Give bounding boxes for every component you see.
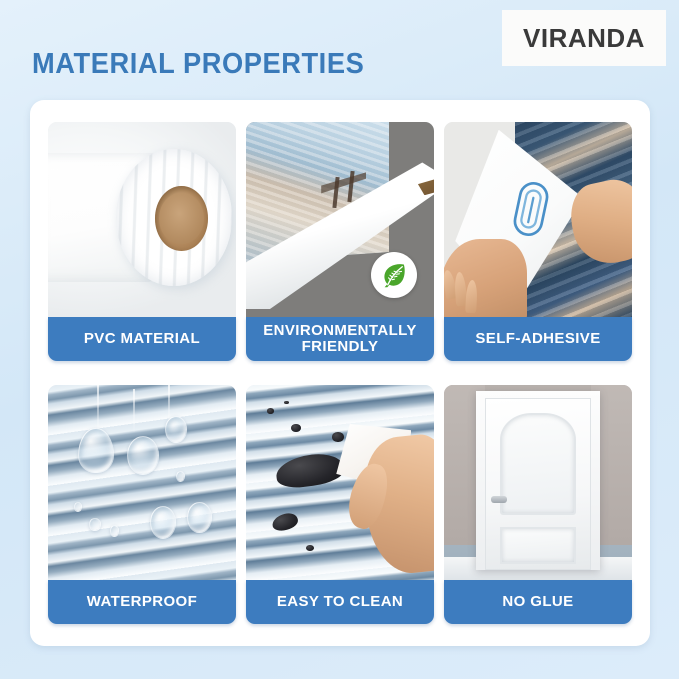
feature-label-waterproof: WATERPROOF: [48, 580, 236, 624]
self-adhesive-image: [444, 122, 632, 317]
door: [485, 398, 592, 570]
label-text: WATERPROOF: [87, 594, 197, 610]
feature-label-easy-to-clean: EASY TO CLEAN: [246, 580, 434, 624]
feature-grid: PVC MATERIAL: [48, 122, 632, 624]
no-glue-door-image: [444, 385, 632, 580]
label-text: NO GLUE: [502, 594, 573, 610]
eco-wallpaper-image: [246, 122, 434, 317]
page-title: MATERIAL PROPERTIES: [32, 48, 364, 81]
feature-tile-easy-to-clean[interactable]: EASY TO CLEAN: [246, 385, 434, 624]
feature-label-self-adhesive: SELF-ADHESIVE: [444, 317, 632, 361]
label-line-1: ENVIRONMENTALLY: [263, 323, 417, 339]
label-text: PVC MATERIAL: [84, 331, 200, 347]
feature-tile-environmentally-friendly[interactable]: ENVIRONMENTALLY FRIENDLY: [246, 122, 434, 361]
label-text: SELF-ADHESIVE: [475, 331, 600, 347]
door-frame: [476, 391, 600, 570]
waterproof-image: [48, 385, 236, 580]
feature-label-no-glue: NO GLUE: [444, 580, 632, 624]
feature-tile-pvc-material[interactable]: PVC MATERIAL: [48, 122, 236, 361]
easy-to-clean-image: [246, 385, 434, 580]
feature-tile-self-adhesive[interactable]: SELF-ADHESIVE: [444, 122, 632, 361]
label-text: EASY TO CLEAN: [277, 594, 403, 610]
brand-name: VIRANDA: [523, 23, 645, 54]
feature-tile-no-glue[interactable]: NO GLUE: [444, 385, 632, 624]
leaf-icon: [379, 260, 409, 290]
label-line-2: FRIENDLY: [263, 339, 417, 355]
leaf-badge: [371, 252, 417, 298]
door-handle: [491, 496, 507, 503]
brand-logo-box: VIRANDA: [502, 10, 666, 66]
feature-label-pvc-material: PVC MATERIAL: [48, 317, 236, 361]
feature-card: PVC MATERIAL: [30, 100, 650, 646]
feature-tile-waterproof[interactable]: WATERPROOF: [48, 385, 236, 624]
label-text: ENVIRONMENTALLY FRIENDLY: [263, 323, 417, 355]
pvc-roll-image: [48, 122, 236, 317]
feature-label-environmentally-friendly: ENVIRONMENTALLY FRIENDLY: [246, 317, 434, 361]
hand-left: [444, 239, 527, 317]
